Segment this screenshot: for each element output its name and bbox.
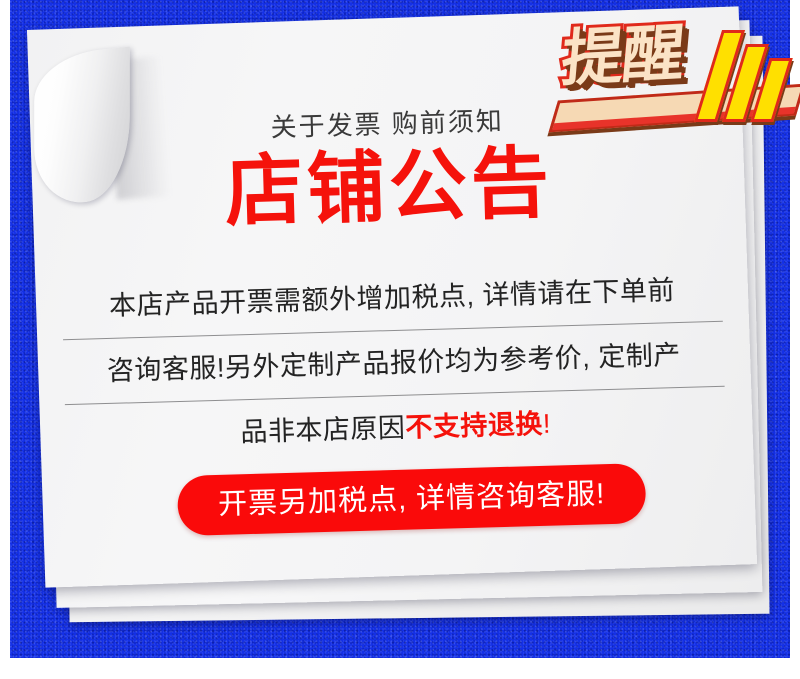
contact-service-button[interactable]: 开票另加税点, 详情咨询客服!: [177, 463, 646, 536]
reminder-badge-label: 提醒: [559, 19, 686, 95]
reminder-badge: 提醒: [548, 14, 800, 132]
announcement-banner: 关于发票 购前须知 店铺公告 本店产品开票需额外增加税点, 详情请在下单前 咨询…: [0, 0, 800, 679]
page-title: 店铺公告: [32, 138, 746, 236]
exclamation-marks-icon: [706, 30, 800, 122]
no-return-highlight: 不支持退换: [405, 409, 543, 443]
announcement-line-3-prefix: 品非本店原因: [240, 413, 406, 448]
announcement-line-3-suffix: !: [542, 409, 551, 439]
announcement-body: 本店产品开票需额外增加税点, 详情请在下单前 咨询客服!另外定制产品报价均为参考…: [61, 257, 726, 469]
